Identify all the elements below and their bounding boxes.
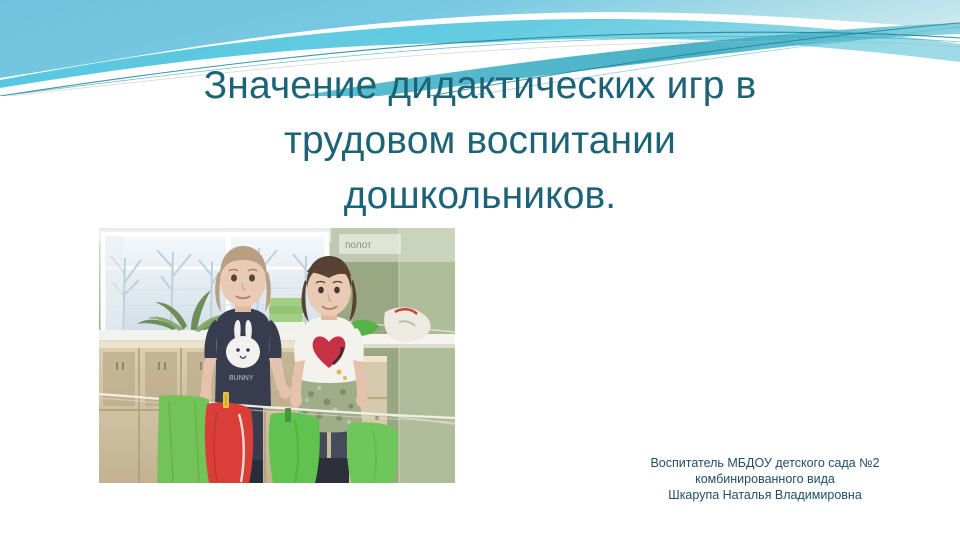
kindergarten-children-photo: полот я3 xyxy=(99,228,455,483)
title-line-3: дошкольников. xyxy=(80,168,880,223)
credit-line-1: Воспитатель МБДОУ детского сада №2 xyxy=(600,455,930,471)
title-line-2: трудовом воспитании xyxy=(80,113,880,168)
credit-line-3: Шкарупа Наталья Владимировна xyxy=(600,487,930,503)
presentation-slide: Значение дидактических игр в трудовом во… xyxy=(0,0,960,540)
credit-line-2: комбинированного вида xyxy=(600,471,930,487)
slide-title: Значение дидактических игр в трудовом во… xyxy=(80,58,880,223)
presenter-credit: Воспитатель МБДОУ детского сада №2 комби… xyxy=(600,455,930,503)
title-line-1: Значение дидактических игр в xyxy=(80,58,880,113)
